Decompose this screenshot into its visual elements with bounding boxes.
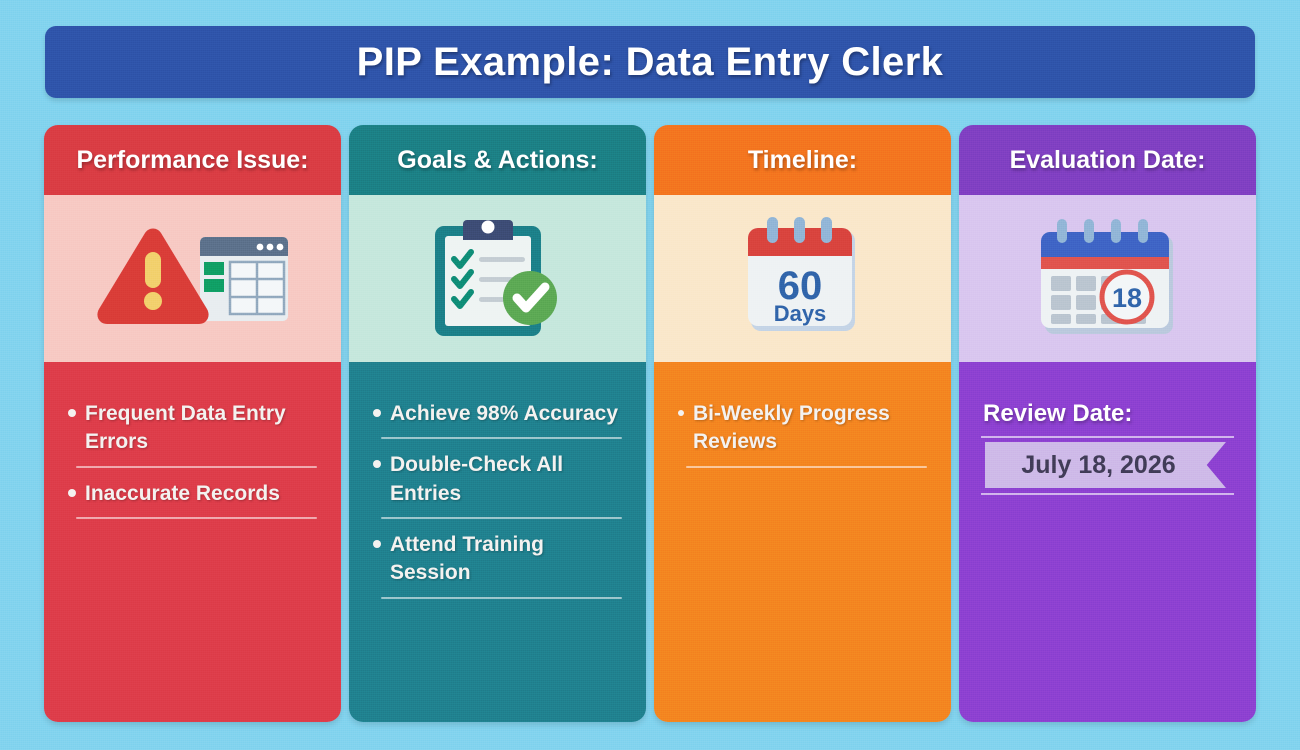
icon-panel-timeline: 60 Days (654, 195, 951, 362)
card-title-evaluation-date: Evaluation Date: (1010, 146, 1206, 175)
icon-panel-evaluation-date: 18 (959, 195, 1256, 362)
bullet-text: Attend Training Session (390, 531, 626, 588)
warning-triangle-spreadsheet-icon (88, 219, 298, 339)
list-item: Frequent Data Entry Errors (64, 400, 321, 468)
card-performance-issue: Performance Issue: (44, 125, 341, 722)
divider (981, 436, 1234, 438)
calendar-day-18-icon: 18 (1025, 214, 1190, 344)
infographic-canvas: PIP Example: Data Entry Clerk Performanc… (0, 0, 1300, 750)
card-goals-actions: Goals & Actions: (349, 125, 646, 722)
card-body-evaluation-date: Review Date: July 18, 2026 (959, 362, 1256, 722)
bullet-dot-icon (68, 409, 76, 417)
bullet-dot-icon (373, 409, 381, 417)
card-header-goals-actions: Goals & Actions: (349, 125, 646, 195)
divider (381, 597, 622, 599)
divider (981, 493, 1234, 495)
review-date-ribbon: July 18, 2026 (985, 442, 1226, 488)
card-header-performance-issue: Performance Issue: (44, 125, 341, 195)
title-bar: PIP Example: Data Entry Clerk (45, 26, 1255, 98)
bullet-dot-icon (68, 489, 76, 497)
calendar-unit-text: Days (773, 301, 826, 326)
bullet-dot-icon (678, 410, 684, 416)
card-timeline: Timeline: 60 Days (654, 125, 951, 722)
review-date-label: Review Date: (983, 400, 1236, 428)
list-item: Attend Training Session (369, 531, 626, 599)
card-title-performance-issue: Performance Issue: (76, 146, 308, 175)
card-header-timeline: Timeline: (654, 125, 951, 195)
review-date-value: July 18, 2026 (1021, 451, 1175, 480)
bullet-text: Achieve 98% Accuracy (390, 400, 618, 428)
divider (76, 466, 317, 468)
divider (381, 517, 622, 519)
card-body-performance-issue: Frequent Data Entry Errors Inaccurate Re… (44, 362, 341, 722)
calendar-60-days-icon: 60 Days (733, 211, 873, 346)
icon-panel-performance-issue (44, 195, 341, 362)
bullet-dot-icon (373, 540, 381, 548)
column-container: Performance Issue: (44, 125, 1256, 722)
card-title-goals-actions: Goals & Actions: (397, 146, 598, 175)
list-item: Achieve 98% Accuracy (369, 400, 626, 439)
bullet-text: Frequent Data Entry Errors (85, 400, 321, 457)
page-title: PIP Example: Data Entry Clerk (357, 40, 944, 85)
bullet-dot-icon (373, 460, 381, 468)
calendar-day-text: 18 (1112, 283, 1142, 313)
card-evaluation-date: Evaluation Date: (959, 125, 1256, 722)
bullet-text: Inaccurate Records (85, 480, 280, 508)
review-date-block: Review Date: July 18, 2026 (979, 400, 1236, 495)
list-item: Bi-Weekly Progress Reviews (674, 400, 931, 468)
bullet-text: Bi-Weekly Progress Reviews (693, 400, 931, 457)
card-title-timeline: Timeline: (748, 146, 857, 175)
bullet-text: Double-Check All Entries (390, 451, 626, 508)
card-body-timeline: Bi-Weekly Progress Reviews (654, 362, 951, 722)
divider (76, 517, 317, 519)
card-header-evaluation-date: Evaluation Date: (959, 125, 1256, 195)
card-body-goals-actions: Achieve 98% Accuracy Double-Check All En… (349, 362, 646, 722)
list-item: Double-Check All Entries (369, 451, 626, 519)
icon-panel-goals-actions (349, 195, 646, 362)
clipboard-checklist-check-icon (423, 214, 573, 344)
list-item: Inaccurate Records (64, 480, 321, 519)
divider (381, 437, 622, 439)
divider (686, 466, 927, 468)
